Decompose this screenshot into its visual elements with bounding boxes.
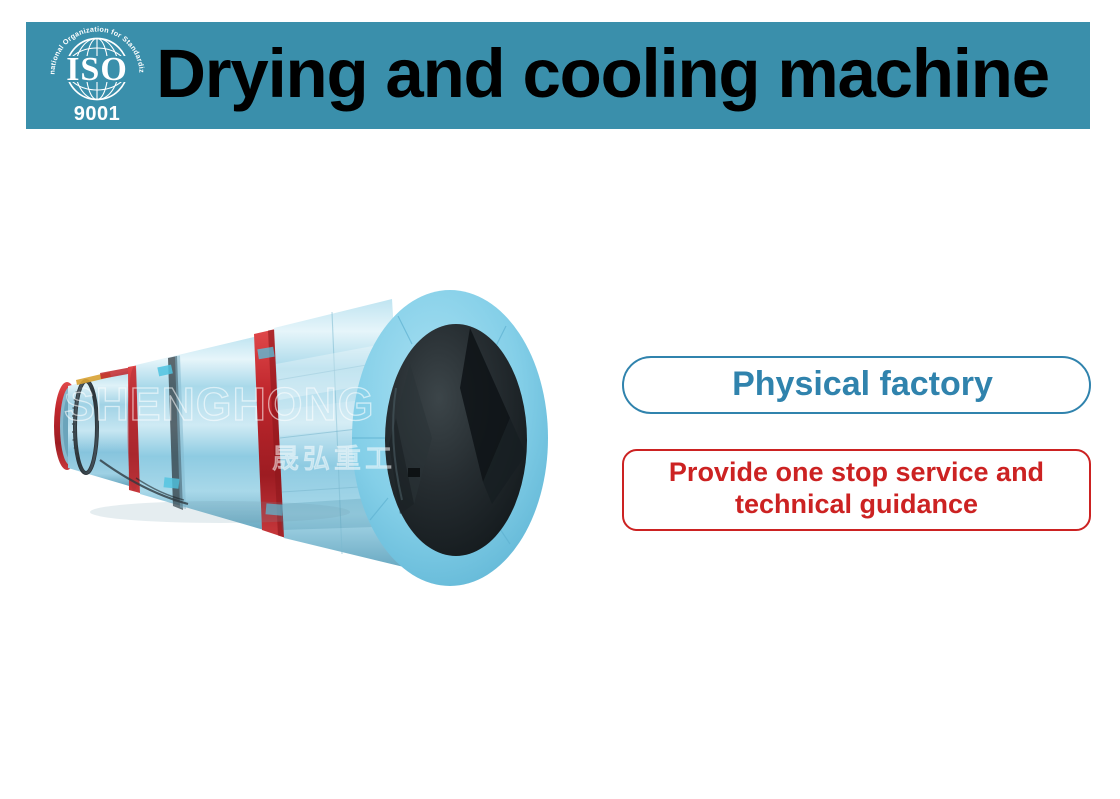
service-callout[interactable]: Provide one stop service andtechnical gu… (622, 449, 1091, 531)
drum-open-end (352, 290, 548, 586)
header-banner: ISO International Organization for Stand… (26, 22, 1090, 129)
watermark-brand-chinese: 晟弘重工 (272, 444, 396, 474)
iso-acronym: ISO (61, 51, 133, 88)
physical-factory-label: Physical factory (720, 367, 993, 404)
product-photo: SHENGHONG 晟弘重工 (40, 268, 620, 638)
service-label: Provide one stop service andtechnical gu… (659, 457, 1054, 523)
iso-9001-logo: ISO International Organization for Stand… (45, 24, 149, 128)
rotary-drum-dryer-illustration: SHENGHONG 晟弘重工 (40, 268, 620, 638)
svg-text:ISO: ISO (66, 51, 128, 88)
callout-group: Physical factory Provide one stop servic… (622, 356, 1094, 531)
iso-standard-number: 9001 (74, 103, 121, 125)
page-title: Drying and cooling machine (149, 39, 1090, 112)
iso-globe-icon: ISO International Organization for Stand… (45, 24, 149, 128)
physical-factory-callout[interactable]: Physical factory (622, 356, 1091, 414)
watermark-brand-latin: SHENGHONG (64, 378, 375, 430)
